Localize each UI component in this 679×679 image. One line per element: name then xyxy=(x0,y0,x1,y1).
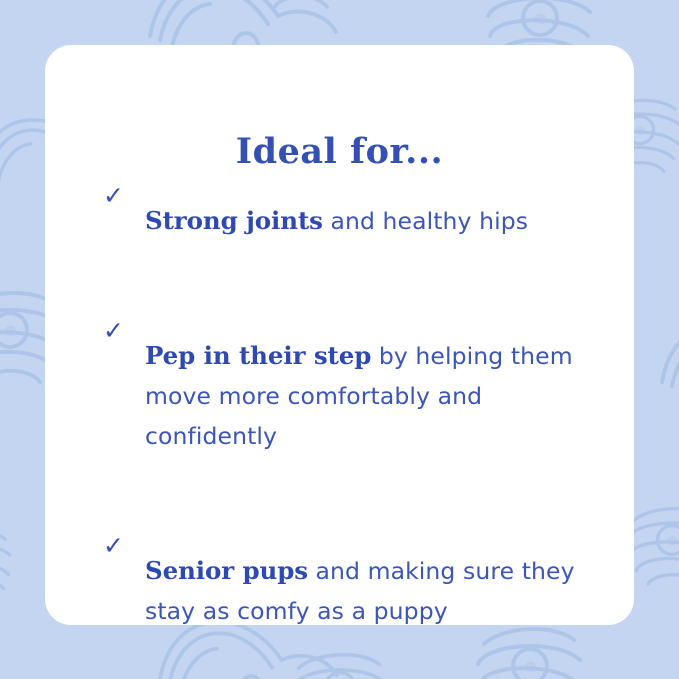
benefit-text: Pep in their step by helping them move m… xyxy=(145,336,575,456)
benefit-text: Senior pups and making sure they stay as… xyxy=(145,551,575,631)
list-item: ✓ Senior pups and making sure they stay … xyxy=(103,527,604,654)
check-icon: ✓ xyxy=(103,527,145,558)
content-card: Ideal for... ✓ Strong joints and healthy… xyxy=(45,45,634,625)
list-item: ✓ Strong joints and healthy hips xyxy=(103,177,604,264)
benefit-lead: Senior pups xyxy=(145,556,308,585)
list-item: ✓ Pep in their step by helping them move… xyxy=(103,312,604,479)
benefit-rest: and healthy hips xyxy=(323,207,528,235)
check-icon: ✓ xyxy=(103,312,145,343)
benefit-lead: Strong joints xyxy=(145,206,323,235)
promo-graphic: Ideal for... ✓ Strong joints and healthy… xyxy=(0,0,679,679)
check-icon: ✓ xyxy=(103,177,145,208)
benefit-text: Strong joints and healthy hips xyxy=(145,201,575,241)
page-title: Ideal for... xyxy=(45,134,634,169)
benefit-lead: Pep in their step xyxy=(145,341,371,370)
benefit-list: ✓ Strong joints and healthy hips ✓ Pep i… xyxy=(103,177,604,654)
